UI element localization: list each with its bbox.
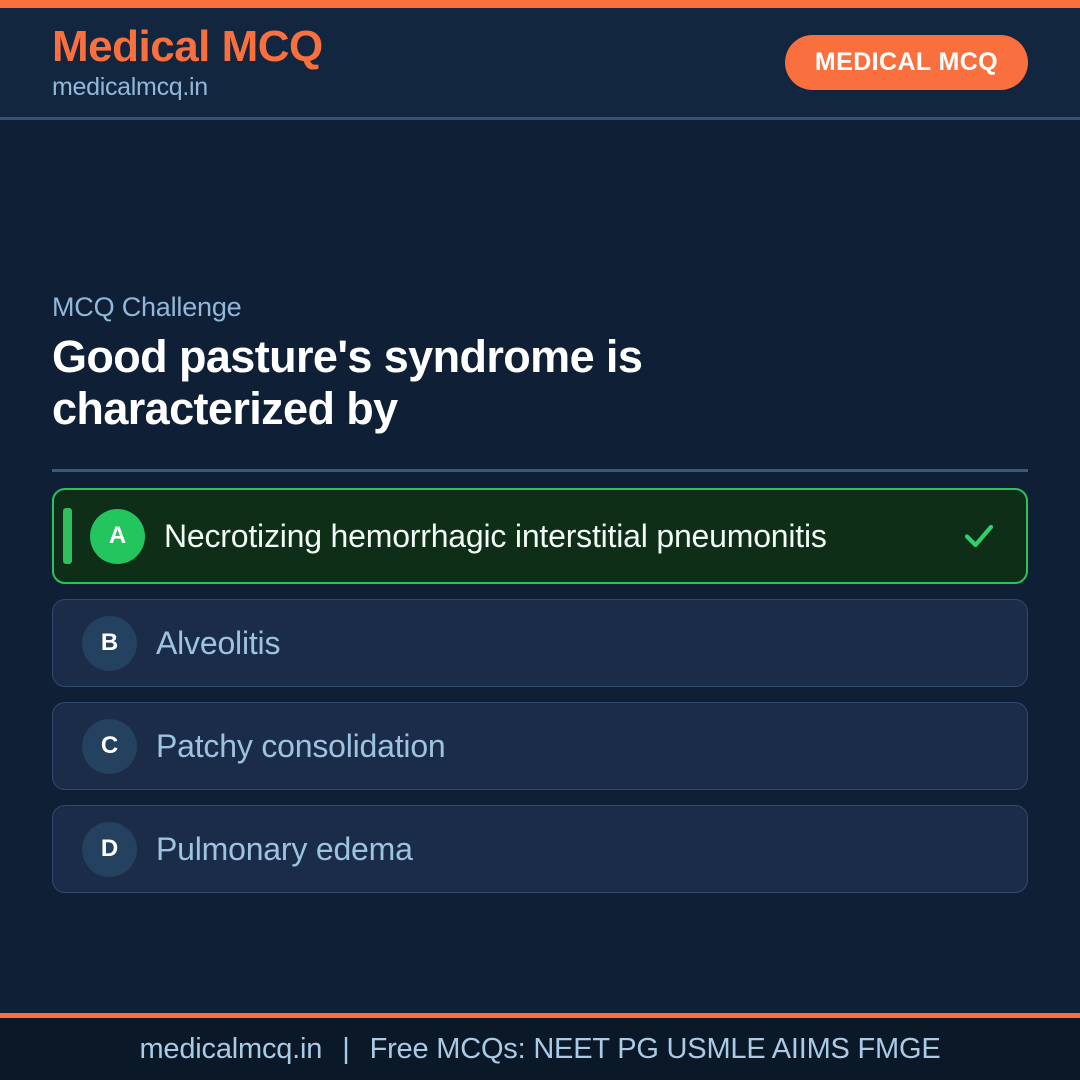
option-text-d: Pulmonary edema (156, 831, 1001, 869)
correct-accent-bar (63, 508, 72, 564)
footer-exams: Free MCQs: NEET PG USMLE AIIMS FMGE (370, 1033, 941, 1066)
header-badge: MEDICAL MCQ (785, 35, 1028, 90)
option-letter-d: D (82, 822, 137, 877)
footer-site: medicalmcq.in (139, 1033, 322, 1066)
brand-subtitle: medicalmcq.in (52, 75, 323, 100)
kicker-label: MCQ Challenge (52, 292, 1028, 323)
option-letter-c: C (82, 719, 137, 774)
brand: Medical MCQ medicalmcq.in (52, 25, 323, 100)
header-bar: Medical MCQ medicalmcq.in MEDICAL MCQ (0, 8, 1080, 120)
check-icon (958, 515, 1000, 557)
options-list: A Necrotizing hemorrhagic interstitial p… (52, 488, 1028, 893)
brand-title: Medical MCQ (52, 25, 323, 69)
option-text-b: Alveolitis (156, 625, 1001, 663)
top-accent-strip (0, 0, 1080, 8)
question-text: Good pasture's syndrome is characterized… (52, 331, 932, 435)
option-c[interactable]: C Patchy consolidation (52, 702, 1028, 790)
option-a[interactable]: A Necrotizing hemorrhagic interstitial p… (52, 488, 1028, 584)
option-d[interactable]: D Pulmonary edema (52, 805, 1028, 893)
option-text-c: Patchy consolidation (156, 728, 1001, 766)
section-divider (52, 469, 1028, 472)
footer-bar: medicalmcq.in | Free MCQs: NEET PG USMLE… (0, 1013, 1080, 1080)
option-b[interactable]: B Alveolitis (52, 599, 1028, 687)
option-letter-b: B (82, 616, 137, 671)
footer-separator: | (342, 1033, 349, 1066)
option-text-a: Necrotizing hemorrhagic interstitial pne… (164, 518, 944, 556)
option-letter-a: A (90, 509, 145, 564)
content-area: MCQ Challenge Good pasture's syndrome is… (0, 120, 1080, 1013)
top-spacer (52, 120, 1028, 292)
bottom-spacer (52, 893, 1028, 1013)
mcq-card: Medical MCQ medicalmcq.in MEDICAL MCQ MC… (0, 0, 1080, 1080)
